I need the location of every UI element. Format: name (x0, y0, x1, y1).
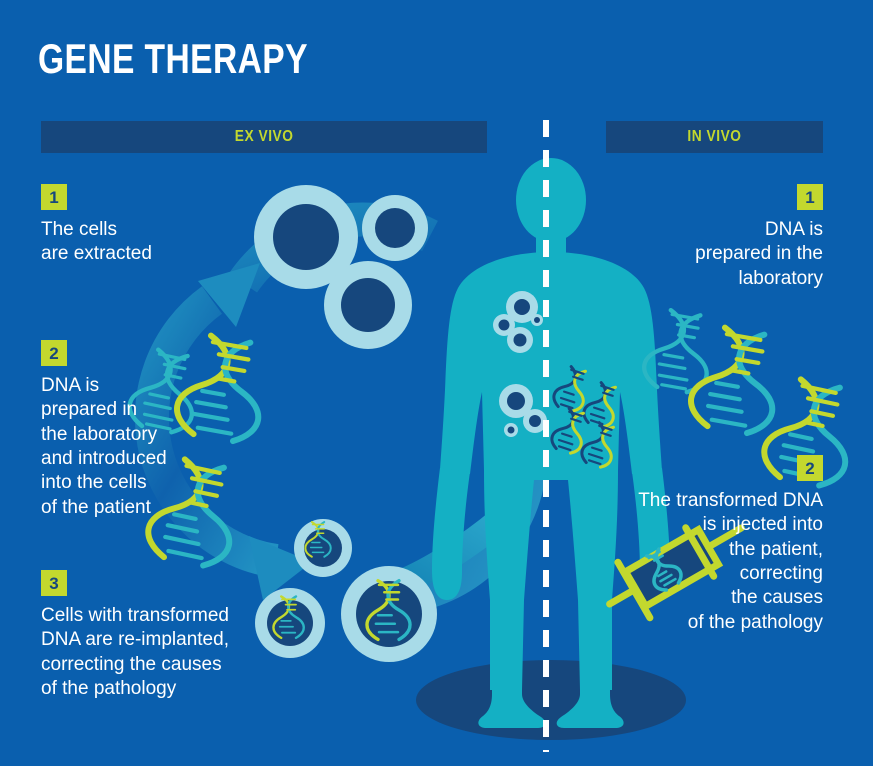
section-header-in-vivo-label: IN VIVO (687, 128, 741, 146)
step-description: The transformed DNA is injected into the… (600, 489, 823, 635)
step-number-badge: 2 (797, 455, 823, 481)
step-description: Cells with transformed DNA are re-implan… (41, 604, 291, 701)
in-vivo-step-2: 2 The transformed DNA is injected into t… (600, 455, 823, 635)
ex-vivo-step-2: 2 DNA is prepared in the laboratory and … (41, 340, 256, 520)
step-number-badge: 3 (41, 570, 67, 596)
step-number-badge: 2 (41, 340, 67, 366)
step-description: DNA is prepared in the laboratory (640, 218, 823, 291)
section-header-in-vivo: IN VIVO (606, 121, 823, 153)
page-title: GENE THERAPY (38, 38, 308, 80)
step-number-badge: 1 (797, 184, 823, 210)
ex-vivo-step-1: 1 The cells are extracted (41, 184, 271, 267)
step-description: DNA is prepared in the laboratory and in… (41, 374, 256, 520)
step-number-badge: 1 (41, 184, 67, 210)
section-header-ex-vivo-label: EX VIVO (235, 128, 294, 146)
infographic-root: GENE THERAPY EX VIVO IN VIVO 1 The cells… (0, 0, 873, 766)
step-description: The cells are extracted (41, 218, 271, 267)
text-layer: GENE THERAPY EX VIVO IN VIVO 1 The cells… (0, 0, 873, 766)
section-header-ex-vivo: EX VIVO (41, 121, 487, 153)
ex-vivo-step-3: 3 Cells with transformed DNA are re-impl… (41, 570, 291, 701)
in-vivo-step-1: 1 DNA is prepared in the laboratory (640, 184, 823, 291)
